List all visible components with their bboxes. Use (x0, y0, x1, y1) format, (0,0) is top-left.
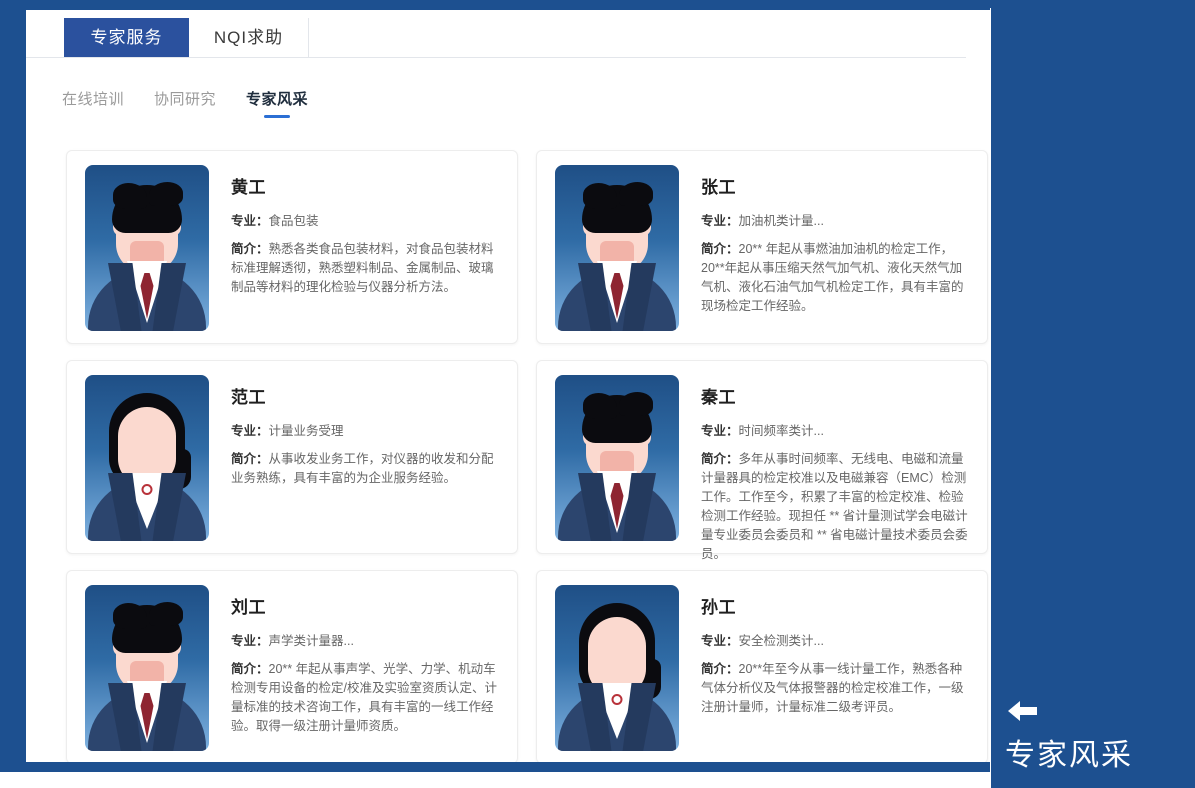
avatar-hair-right-tuft (619, 392, 653, 416)
expert-intro-label: 简介： (701, 662, 739, 676)
expert-card[interactable]: 孙工 专业：安全检测类计... 简介：20**年至今从事一线计量工作，熟悉各种气… (536, 570, 988, 762)
expert-name: 范工 (231, 383, 501, 408)
expert-intro-value: 20** 年起从事燃油加油机的检定工作，20**年起从事压缩天然气加气机、液化天… (701, 242, 964, 313)
expert-info: 秦工 专业：时间频率类计... 简介：多年从事时间频率、无线电、电磁和流量计量器… (679, 375, 971, 539)
expert-major-value: 加油机类计量... (739, 214, 824, 228)
sidebar-item-online-training[interactable]: 在线培训 (62, 88, 124, 118)
expert-major-row: 专业：声学类计量器... (231, 632, 501, 651)
expert-major-row: 专业：安全检测类计... (701, 632, 971, 651)
expert-info: 黄工 专业：食品包装 简介：熟悉各类食品包装材料，对食品包装材料标准理解透彻，熟… (209, 165, 501, 329)
expert-major-value: 安全检测类计... (739, 634, 824, 648)
expert-major-label: 专业： (231, 634, 269, 648)
page-surface: 专家服务 NQI求助 在线培训 协同研究 专家风采 (26, 10, 990, 762)
expert-major-label: 专业： (701, 634, 739, 648)
primary-tab-bar: 专家服务 NQI求助 (26, 18, 966, 58)
expert-card[interactable]: 张工 专业：加油机类计量... 简介：20** 年起从事燃油加油机的检定工作，2… (536, 150, 988, 344)
avatar-hair-left-tuft (583, 393, 617, 419)
sidebar-item-collaborative-research[interactable]: 协同研究 (154, 88, 216, 118)
expert-info: 张工 专业：加油机类计量... 简介：20** 年起从事燃油加油机的检定工作，2… (679, 165, 971, 329)
subtab-collaborative-research-label: 协同研究 (154, 91, 216, 108)
expert-intro-value: 从事收发业务工作，对仪器的收发和分配业务熟练，具有丰富的为企业服务经验。 (231, 452, 494, 485)
avatar-brooch-icon (142, 484, 153, 495)
expert-name: 孙工 (701, 593, 971, 618)
avatar (85, 165, 209, 331)
avatar-hair-right-tuft (619, 182, 653, 206)
tab-expert-service-label: 专家服务 (91, 28, 163, 47)
expert-info: 孙工 专业：安全检测类计... 简介：20**年至今从事一线计量工作，熟悉各种气… (679, 585, 971, 749)
arrow-left-icon[interactable] (1007, 698, 1041, 724)
expert-intro-row: 简介：20** 年起从事燃油加油机的检定工作，20**年起从事压缩天然气加气机、… (701, 240, 971, 316)
avatar (555, 375, 679, 541)
expert-major-label: 专业： (231, 214, 269, 228)
right-rail: 专家风采 (991, 8, 1195, 788)
secondary-tab-bar: 在线培训 协同研究 专家风采 (62, 88, 338, 122)
expert-intro-row: 简介：熟悉各类食品包装材料，对食品包装材料标准理解透彻，熟悉塑料制品、金属制品、… (231, 240, 501, 297)
expert-info: 范工 专业：计量业务受理 简介：从事收发业务工作，对仪器的收发和分配业务熟练，具… (209, 375, 501, 539)
expert-major-label: 专业： (701, 424, 739, 438)
expert-major-row: 专业：加油机类计量... (701, 212, 971, 231)
expert-info: 刘工 专业：声学类计量器... 简介：20** 年起从事声学、光学、力学、机动车… (209, 585, 501, 749)
expert-intro-row: 简介：多年从事时间频率、无线电、电磁和流量计量器具的检定校准以及电磁兼容（EMC… (701, 450, 971, 564)
expert-intro-label: 简介： (231, 242, 269, 256)
avatar-hair-left-tuft (583, 183, 617, 209)
expert-card-grid: 黄工 专业：食品包装 简介：熟悉各类食品包装材料，对食品包装材料标准理解透彻，熟… (66, 150, 990, 762)
app-frame: 专家服务 NQI求助 在线培训 协同研究 专家风采 (0, 0, 990, 772)
expert-name: 刘工 (231, 593, 501, 618)
expert-intro-value: 多年从事时间频率、无线电、电磁和流量计量器具的检定校准以及电磁兼容（EMC）检测… (701, 452, 968, 561)
tab-nqi-help[interactable]: NQI求助 (189, 18, 309, 57)
avatar (555, 585, 679, 751)
avatar-hair-right-tuft (149, 602, 183, 626)
expert-card[interactable]: 范工 专业：计量业务受理 简介：从事收发业务工作，对仪器的收发和分配业务熟练，具… (66, 360, 518, 554)
avatar-brooch-icon (612, 694, 623, 705)
expert-card[interactable]: 黄工 专业：食品包装 简介：熟悉各类食品包装材料，对食品包装材料标准理解透彻，熟… (66, 150, 518, 344)
expert-intro-label: 简介： (231, 662, 269, 676)
expert-major-value: 声学类计量器... (269, 634, 354, 648)
expert-major-row: 专业：食品包装 (231, 212, 501, 231)
expert-card[interactable]: 秦工 专业：时间频率类计... 简介：多年从事时间频率、无线电、电磁和流量计量器… (536, 360, 988, 554)
expert-name: 黄工 (231, 173, 501, 198)
avatar (555, 165, 679, 331)
avatar (85, 585, 209, 751)
expert-intro-value: 20**年至今从事一线计量工作，熟悉各种气体分析仪及气体报警器的检定校准工作，一… (701, 662, 964, 714)
avatar-hair-right-tuft (149, 182, 183, 206)
expert-name: 张工 (701, 173, 971, 198)
expert-major-row: 专业：计量业务受理 (231, 422, 501, 441)
rail-title: 专家风采 (1005, 730, 1133, 774)
expert-intro-value: 熟悉各类食品包装材料，对食品包装材料标准理解透彻，熟悉塑料制品、金属制品、玻璃制… (231, 242, 494, 294)
expert-major-label: 专业： (701, 214, 739, 228)
tab-nqi-help-label: NQI求助 (214, 28, 283, 47)
expert-major-label: 专业： (231, 424, 269, 438)
expert-card[interactable]: 刘工 专业：声学类计量器... 简介：20** 年起从事声学、光学、力学、机动车… (66, 570, 518, 762)
avatar-hair-left-tuft (113, 603, 147, 629)
expert-intro-value: 20** 年起从事声学、光学、力学、机动车检测专用设备的检定/校准及实验室资质认… (231, 662, 497, 733)
sidebar-item-expert-showcase[interactable]: 专家风采 (246, 88, 308, 118)
expert-intro-label: 简介： (701, 242, 739, 256)
expert-major-value: 计量业务受理 (269, 424, 344, 438)
expert-intro-row: 简介：20** 年起从事声学、光学、力学、机动车检测专用设备的检定/校准及实验室… (231, 660, 501, 736)
expert-intro-row: 简介：从事收发业务工作，对仪器的收发和分配业务熟练，具有丰富的为企业服务经验。 (231, 450, 501, 488)
subtab-online-training-label: 在线培训 (62, 91, 124, 108)
subtab-expert-showcase-label: 专家风采 (246, 91, 308, 108)
expert-intro-label: 简介： (231, 452, 269, 466)
avatar-hair-left-tuft (113, 183, 147, 209)
expert-name: 秦工 (701, 383, 971, 408)
tab-expert-service[interactable]: 专家服务 (64, 18, 189, 57)
expert-intro-row: 简介：20**年至今从事一线计量工作，熟悉各种气体分析仪及气体报警器的检定校准工… (701, 660, 971, 717)
expert-major-value: 时间频率类计... (739, 424, 824, 438)
expert-major-value: 食品包装 (269, 214, 319, 228)
expert-major-row: 专业：时间频率类计... (701, 422, 971, 441)
expert-intro-label: 简介： (701, 452, 739, 466)
avatar (85, 375, 209, 541)
